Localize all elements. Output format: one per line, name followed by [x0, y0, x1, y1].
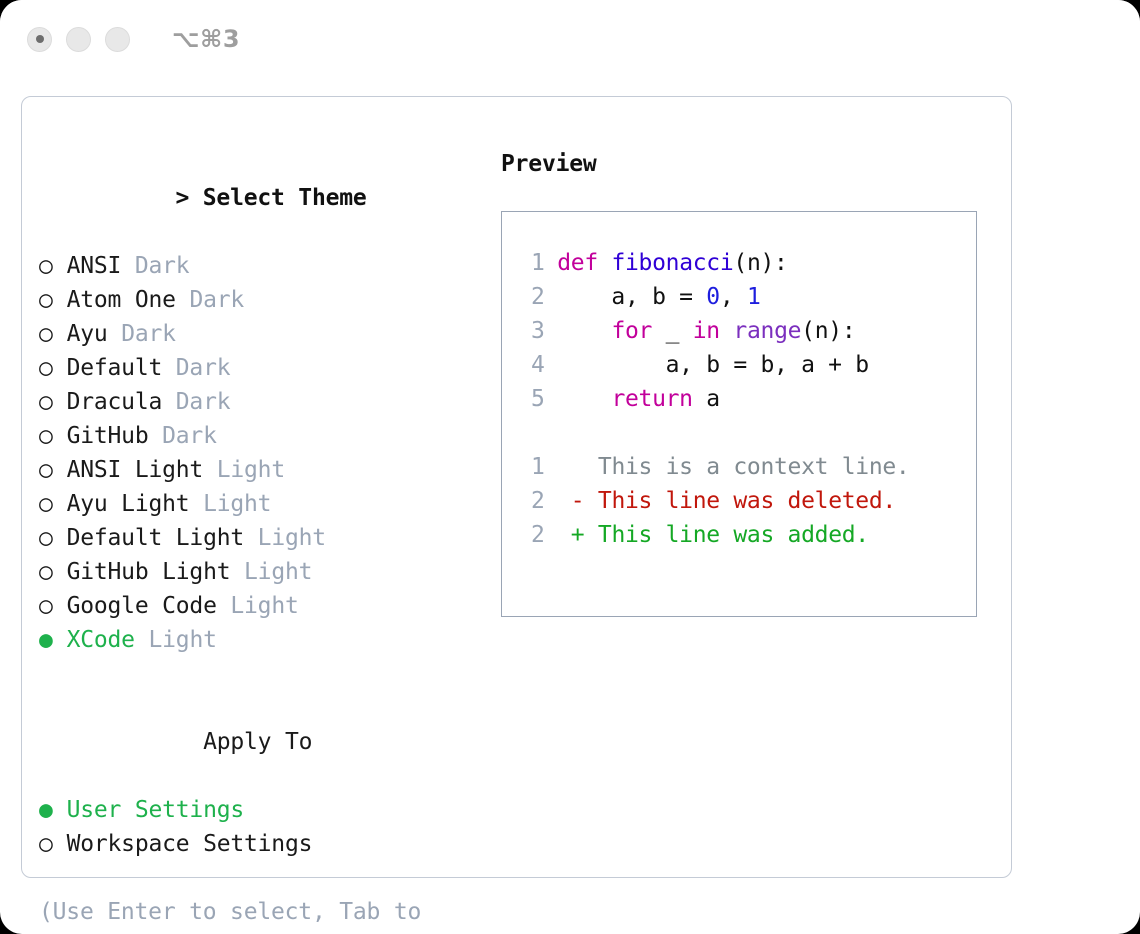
diff-sign-marker: - [557, 488, 598, 514]
theme-option-label: Default Light [67, 525, 244, 551]
code-token-txt [557, 318, 611, 344]
code-line-number: 2 [517, 280, 545, 314]
theme-option-variant: Light [203, 491, 271, 517]
theme-option-gap [135, 627, 149, 653]
theme-option-label: Ayu [67, 321, 108, 347]
code-token-txt [598, 250, 612, 276]
apply-to-option-user-settings[interactable]: ●User Settings [39, 793, 499, 827]
theme-option-label: Default [67, 355, 163, 381]
code-line: 4 a, b = b, a + b [517, 348, 976, 382]
diff-line-number: 2 [517, 518, 545, 552]
code-line: 3 for _ in range(n): [517, 314, 976, 348]
apply-to-option-list: ●User Settings○Workspace Settings [39, 793, 499, 861]
radio-unselected-icon: ○ [39, 487, 67, 521]
code-token-txt: (n): [733, 250, 787, 276]
theme-option-gap [217, 593, 231, 619]
code-token-txt: a [693, 386, 720, 412]
theme-option-github-light[interactable]: ○GitHub Light Light [39, 555, 499, 589]
apply-to-heading-label: Apply To [203, 729, 312, 755]
theme-option-variant: Dark [162, 423, 217, 449]
theme-option-ayu-light[interactable]: ○Ayu Light Light [39, 487, 499, 521]
theme-option-gap [189, 491, 203, 517]
code-line-number: 3 [517, 314, 545, 348]
apply-to-heading: Apply To [39, 691, 499, 793]
theme-option-gap [108, 321, 122, 347]
diff-line-del: 2 - This line was deleted. [517, 484, 976, 518]
code-token-txt: , [720, 284, 747, 310]
code-token-num: 1 [747, 284, 761, 310]
diff-line-text: This line was deleted. [598, 488, 896, 514]
code-token-txt: _ [652, 318, 693, 344]
app-window: ⌥⌘3 > Select Theme ○ANSI Dark○Atom One D… [0, 0, 1140, 934]
theme-option-list: ○ANSI Dark○Atom One Dark○Ayu Dark○Defaul… [39, 249, 499, 657]
apply-to-option-label: User Settings [67, 797, 244, 823]
code-line: 1def fibonacci(n): [517, 246, 976, 280]
window-controls [27, 27, 130, 52]
theme-option-github[interactable]: ○GitHub Dark [39, 419, 499, 453]
radio-unselected-icon: ○ [39, 283, 67, 317]
radio-unselected-icon: ○ [39, 589, 67, 623]
theme-option-label: ANSI [67, 253, 122, 279]
code-token-num: 0 [706, 284, 720, 310]
theme-option-gap [162, 389, 176, 415]
theme-option-ansi-light[interactable]: ○ANSI Light Light [39, 453, 499, 487]
code-line: 5 return a [517, 382, 976, 416]
theme-option-label: Google Code [67, 593, 217, 619]
code-token-txt: a, b = b, a + b [557, 352, 869, 378]
main-panel: > Select Theme ○ANSI Dark○Atom One Dark○… [21, 96, 1012, 878]
diff-sign-marker: + [557, 522, 598, 548]
theme-option-gap [121, 253, 135, 279]
radio-unselected-icon: ○ [39, 317, 67, 351]
theme-option-xcode[interactable]: ●XCode Light [39, 623, 499, 657]
code-diff-separator [517, 416, 976, 450]
keyboard-shortcut-label: ⌥⌘3 [172, 25, 240, 53]
theme-option-default[interactable]: ○Default Dark [39, 351, 499, 385]
list-spacer [39, 657, 499, 691]
code-token-kw: return [611, 386, 692, 412]
theme-option-gap [162, 355, 176, 381]
code-token-bi: range [733, 318, 801, 344]
radio-unselected-icon: ○ [39, 521, 67, 555]
theme-option-variant: Light [244, 559, 312, 585]
radio-unselected-icon: ○ [39, 453, 67, 487]
theme-option-gap [244, 525, 258, 551]
radio-unselected-icon: ○ [39, 385, 67, 419]
diff-line-text: This is a context line. [598, 454, 910, 480]
theme-option-variant: Light [230, 593, 298, 619]
theme-option-variant: Light [149, 627, 217, 653]
code-token-kw: for [611, 318, 652, 344]
theme-option-variant: Dark [176, 389, 231, 415]
preview-box: 1def fibonacci(n):2 a, b = 0, 13 for _ i… [501, 211, 977, 617]
radio-selected-icon: ● [39, 793, 67, 827]
radio-unselected-icon: ○ [39, 555, 67, 589]
diff-sample-block: 1 This is a context line.2 - This line w… [517, 450, 976, 552]
code-token-txt: a, b = [557, 284, 706, 310]
diff-line-ctx: 1 This is a context line. [517, 450, 976, 484]
theme-option-variant: Light [217, 457, 285, 483]
preview-column: Preview 1def fibonacci(n):2 a, b = 0, 13… [501, 147, 991, 617]
theme-option-gap [148, 423, 162, 449]
window-dot-maximize[interactable] [105, 27, 130, 52]
apply-to-heading-indent [175, 725, 203, 759]
code-sample-block: 1def fibonacci(n):2 a, b = 0, 13 for _ i… [517, 246, 976, 416]
code-token-kw: def [557, 250, 598, 276]
diff-line-number: 2 [517, 484, 545, 518]
code-token-txt: (n): [801, 318, 855, 344]
theme-option-default-light[interactable]: ○Default Light Light [39, 521, 499, 555]
theme-option-label: ANSI Light [67, 457, 203, 483]
code-line: 2 a, b = 0, 1 [517, 280, 976, 314]
theme-option-gap [176, 287, 190, 313]
diff-line-add: 2 + This line was added. [517, 518, 976, 552]
theme-selector-column: > Select Theme ○ANSI Dark○Atom One Dark○… [39, 147, 499, 934]
apply-to-option-workspace-settings[interactable]: ○Workspace Settings [39, 827, 499, 861]
select-theme-prompt-marker: > [175, 185, 202, 211]
theme-option-label: Ayu Light [67, 491, 190, 517]
code-line-number: 1 [517, 246, 545, 280]
theme-option-label: Atom One [67, 287, 176, 313]
theme-option-label: GitHub Light [67, 559, 231, 585]
window-dot-minimize[interactable] [66, 27, 91, 52]
theme-option-atom-one[interactable]: ○Atom One Dark [39, 283, 499, 317]
theme-option-variant: Dark [135, 253, 190, 279]
select-theme-heading: > Select Theme [39, 147, 499, 249]
theme-option-variant: Dark [176, 355, 231, 381]
theme-option-ayu[interactable]: ○Ayu Dark [39, 317, 499, 351]
theme-option-gap [230, 559, 244, 585]
theme-option-variant: Dark [121, 321, 176, 347]
code-token-fn: fibonacci [611, 250, 733, 276]
code-token-txt [557, 386, 611, 412]
code-line-number: 5 [517, 382, 545, 416]
radio-unselected-icon: ○ [39, 827, 67, 861]
diff-line-number: 1 [517, 450, 545, 484]
radio-unselected-icon: ○ [39, 419, 67, 453]
theme-option-ansi[interactable]: ○ANSI Dark [39, 249, 499, 283]
keyboard-hint-text: (Use Enter to select, Tab to change focu… [39, 895, 459, 934]
preview-heading: Preview [501, 147, 991, 181]
theme-option-variant: Dark [189, 287, 244, 313]
theme-option-label: XCode [67, 627, 135, 653]
diff-line-text: This line was added. [598, 522, 869, 548]
radio-unselected-icon: ○ [39, 351, 67, 385]
theme-option-label: GitHub [67, 423, 149, 449]
apply-to-option-label: Workspace Settings [67, 831, 313, 857]
code-token-kw: in [693, 318, 720, 344]
select-theme-heading-label: Select Theme [203, 185, 367, 211]
title-bar: ⌥⌘3 [0, 0, 1140, 78]
theme-option-google-code[interactable]: ○Google Code Light [39, 589, 499, 623]
radio-unselected-icon: ○ [39, 249, 67, 283]
code-token-txt [720, 318, 734, 344]
window-dot-close[interactable] [27, 27, 52, 52]
theme-option-label: Dracula [67, 389, 163, 415]
code-line-number: 4 [517, 348, 545, 382]
theme-option-variant: Light [258, 525, 326, 551]
radio-selected-icon: ● [39, 623, 67, 657]
window-dot-active-indicator [36, 35, 44, 43]
theme-option-gap [203, 457, 217, 483]
diff-sign-marker [557, 454, 598, 480]
theme-option-dracula[interactable]: ○Dracula Dark [39, 385, 499, 419]
